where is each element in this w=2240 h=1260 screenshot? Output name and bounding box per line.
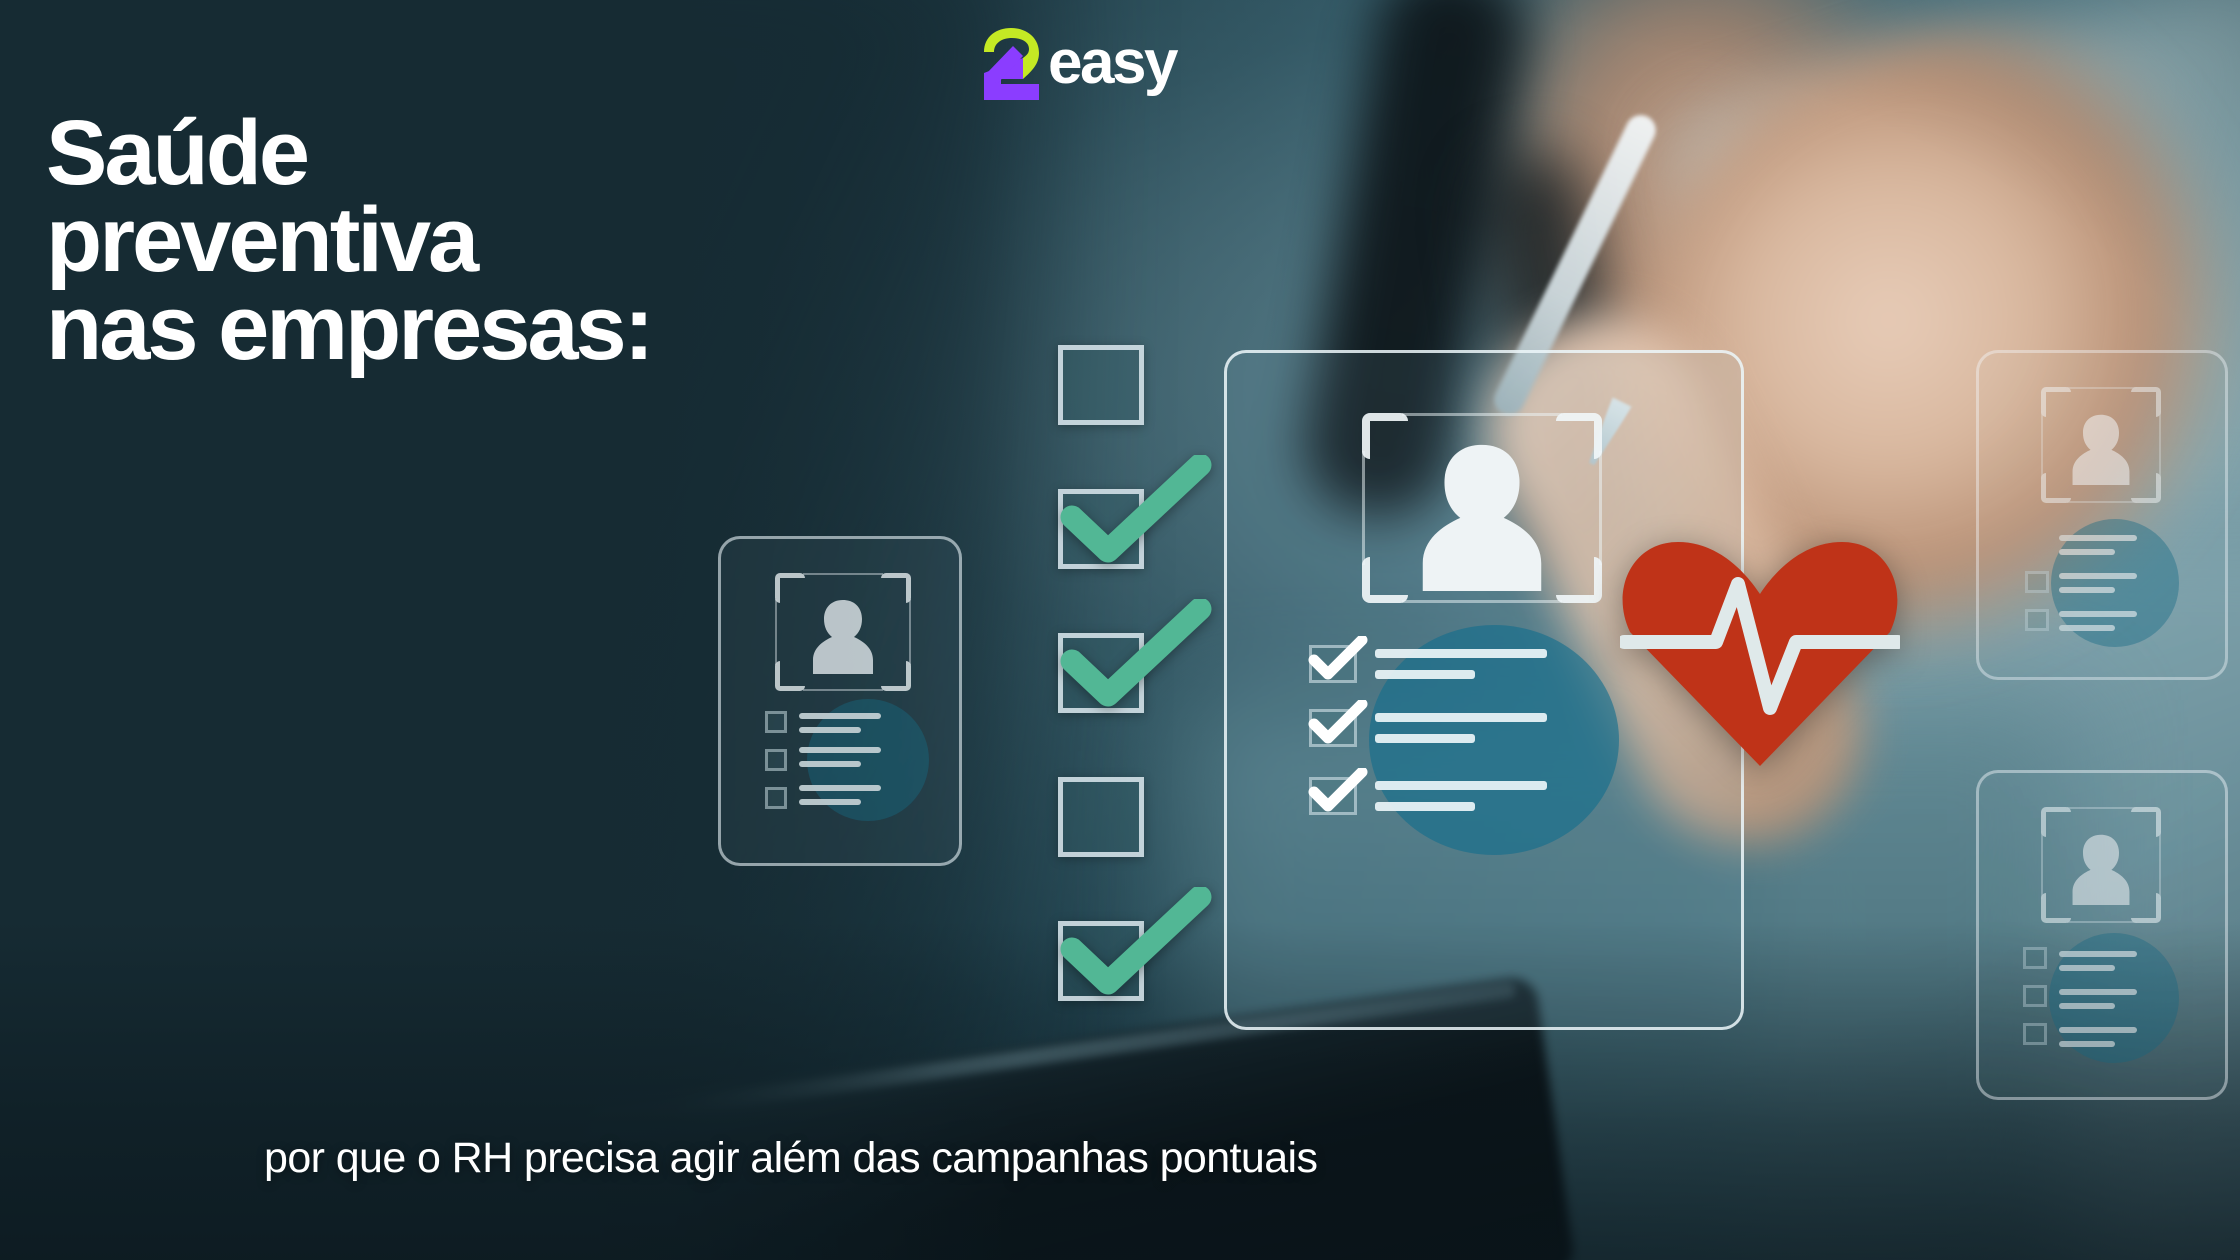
card-checkbox	[2023, 1023, 2047, 1045]
checkbox-item-5[interactable]	[1058, 921, 1144, 1001]
card-line-group-3	[799, 785, 881, 805]
card-checkbox-checked	[1309, 777, 1357, 815]
headline-line-2: preventiva	[46, 197, 926, 284]
avatar-frame	[2041, 807, 2161, 923]
check-icon	[1308, 700, 1370, 744]
check-icon	[1308, 636, 1370, 680]
checkbox-item-4[interactable]	[1058, 777, 1144, 857]
card-line-group-2	[2059, 573, 2137, 593]
card-line-group-3	[2059, 611, 2137, 631]
id-card-left	[718, 536, 962, 866]
card-checkbox-checked	[1309, 709, 1357, 747]
card-line-group-1	[2059, 951, 2137, 971]
check-icon	[1054, 599, 1214, 719]
logo-wordmark: easy	[1048, 32, 1176, 94]
card-line-group-2	[1375, 713, 1547, 743]
banner-canvas: easy Saúde preventiva nas empresas: por …	[0, 0, 2240, 1260]
check-icon	[1054, 887, 1214, 1007]
page-subtitle: por que o RH precisa agir além das campa…	[264, 1134, 1317, 1183]
card-checkbox	[765, 749, 787, 771]
checkbox-box[interactable]	[1058, 777, 1144, 857]
id-card-right-bottom	[1976, 770, 2228, 1100]
heart-pulse-icon	[1620, 520, 1900, 770]
checkbox-item-1[interactable]	[1058, 345, 1144, 425]
card-line-group-1	[799, 713, 881, 733]
avatar	[804, 594, 882, 674]
card-checkbox	[2023, 947, 2047, 969]
card-line-group-1	[1375, 649, 1547, 679]
logo-two-mark	[980, 26, 1042, 100]
card-checkbox	[2023, 985, 2047, 1007]
logo-bar-purple	[994, 84, 1039, 100]
id-card-right-top	[1976, 350, 2228, 680]
brand-logo[interactable]: easy	[980, 26, 1176, 100]
avatar	[2064, 829, 2138, 905]
checkbox-box[interactable]	[1058, 345, 1144, 425]
card-checkbox	[765, 711, 787, 733]
avatar	[1402, 433, 1562, 591]
card-line-group-2	[2059, 989, 2137, 1009]
headline-line-1: Saúde	[46, 110, 926, 197]
checkbox-item-2[interactable]	[1058, 489, 1144, 569]
page-title: Saúde preventiva nas empresas:	[46, 110, 926, 372]
card-line-group-3	[1375, 781, 1547, 811]
headline-line-3: nas empresas:	[46, 285, 926, 372]
checkbox-column	[1058, 345, 1144, 1065]
avatar	[2064, 409, 2138, 485]
card-checkbox-checked	[1309, 645, 1357, 683]
avatar-frame	[2041, 387, 2161, 503]
checkbox-item-3[interactable]	[1058, 633, 1144, 713]
card-line-group-2	[799, 747, 881, 767]
card-line-group-1	[2059, 535, 2137, 555]
card-checkbox	[2025, 571, 2049, 593]
avatar-frame	[1362, 413, 1602, 603]
card-checkbox	[2025, 609, 2049, 631]
avatar-frame	[775, 573, 911, 691]
card-checkbox	[765, 787, 787, 809]
check-icon	[1308, 768, 1370, 812]
card-line-group-3	[2059, 1027, 2137, 1047]
check-icon	[1054, 455, 1214, 575]
